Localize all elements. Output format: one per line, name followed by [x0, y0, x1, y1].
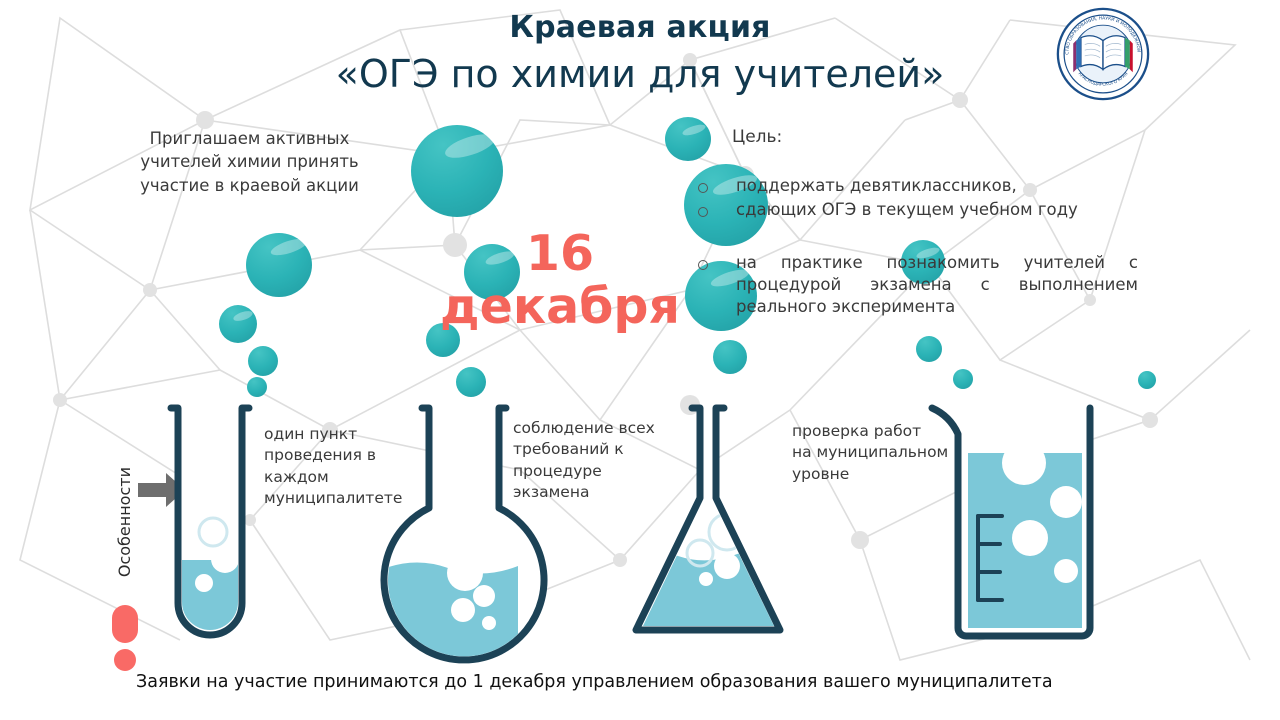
goal-item-text: поддержать девятиклассников,: [736, 175, 1138, 197]
vessel-caption-3: проверка работ на муниципальном уровне: [792, 421, 952, 485]
goal-item-text: сдающих ОГЭ в текущем учебном году: [736, 199, 1138, 221]
goal-list: поддержать девятиклассников, сдающих ОГЭ…: [698, 175, 1138, 336]
goal-item-text: на практике познакомить учителей с проце…: [736, 252, 1138, 319]
test-tube: [171, 408, 249, 668]
goal-item: поддержать девятиклассников,: [698, 175, 1138, 197]
beaker: [932, 408, 1090, 636]
bullet-circle-icon: [698, 207, 708, 217]
intro-paragraph: Приглашаем активных учителей химии приня…: [112, 127, 387, 197]
goal-item: сдающих ОГЭ в текущем учебном году: [698, 199, 1138, 221]
bullet-circle-icon: [698, 260, 708, 270]
goal-item: на практике познакомить учителей с проце…: [698, 252, 1138, 319]
exclamation-mark-icon: [112, 605, 142, 657]
event-date-month: декабря: [420, 281, 700, 334]
bullet-circle-icon: [698, 183, 708, 193]
footer-notice: Заявки на участие принимаются до 1 декаб…: [136, 672, 1196, 692]
event-date: 16 декабря: [420, 228, 700, 334]
event-date-day: 16: [420, 228, 700, 281]
exclamation-dot: [114, 649, 136, 671]
vessel-caption-2: соблюдение всех требований к процедуре э…: [513, 418, 673, 504]
goal-heading: Цель:: [732, 127, 782, 147]
ministry-seal-logo: МИНИСТЕРСТВО ОБРАЗОВАНИЯ, НАУКИ И МОЛОДЁ…: [1055, 6, 1151, 102]
vessel-caption-1: один пункт проведения в каждом муниципал…: [264, 424, 414, 510]
exclamation-bar: [112, 605, 138, 643]
infographic-slide: Краевая акция «ОГЭ по химии для учителей…: [0, 0, 1280, 720]
